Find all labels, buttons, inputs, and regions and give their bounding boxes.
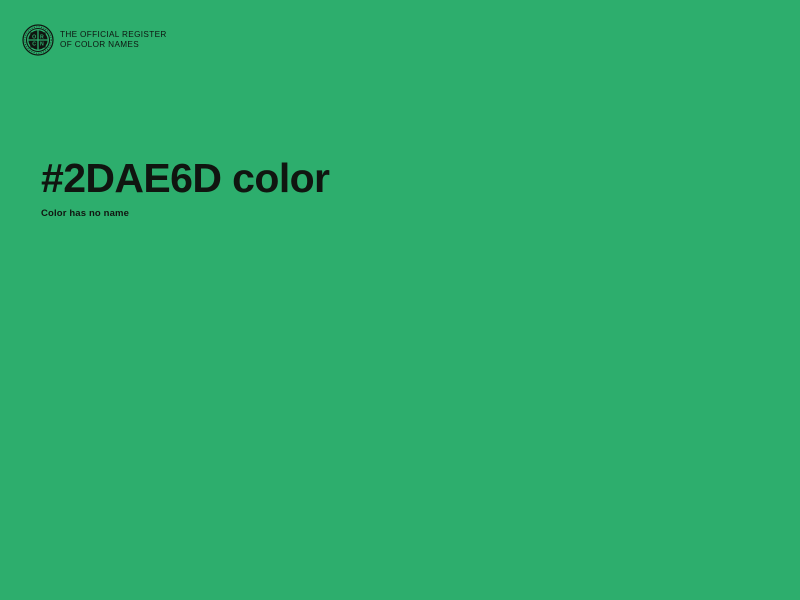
svg-text:O: O (32, 34, 36, 40)
brand-wordmark: THE OFFICIAL REGISTER OF COLOR NAMES (60, 30, 167, 50)
register-seal-icon: O R C N (22, 24, 54, 56)
color-page: O R C N THE OFFICIAL REGISTER OF COLOR N… (0, 0, 800, 600)
svg-text:C: C (32, 42, 36, 48)
brand-wordmark-line-1: THE OFFICIAL REGISTER (60, 30, 167, 40)
brand-wordmark-line-2: OF COLOR NAMES (60, 40, 167, 50)
svg-text:N: N (40, 42, 44, 48)
color-name-status: Color has no name (41, 209, 129, 219)
svg-text:R: R (40, 34, 44, 40)
page-title: #2DAE6D color (41, 158, 329, 199)
brand-lockup[interactable]: O R C N THE OFFICIAL REGISTER OF COLOR N… (22, 24, 167, 56)
